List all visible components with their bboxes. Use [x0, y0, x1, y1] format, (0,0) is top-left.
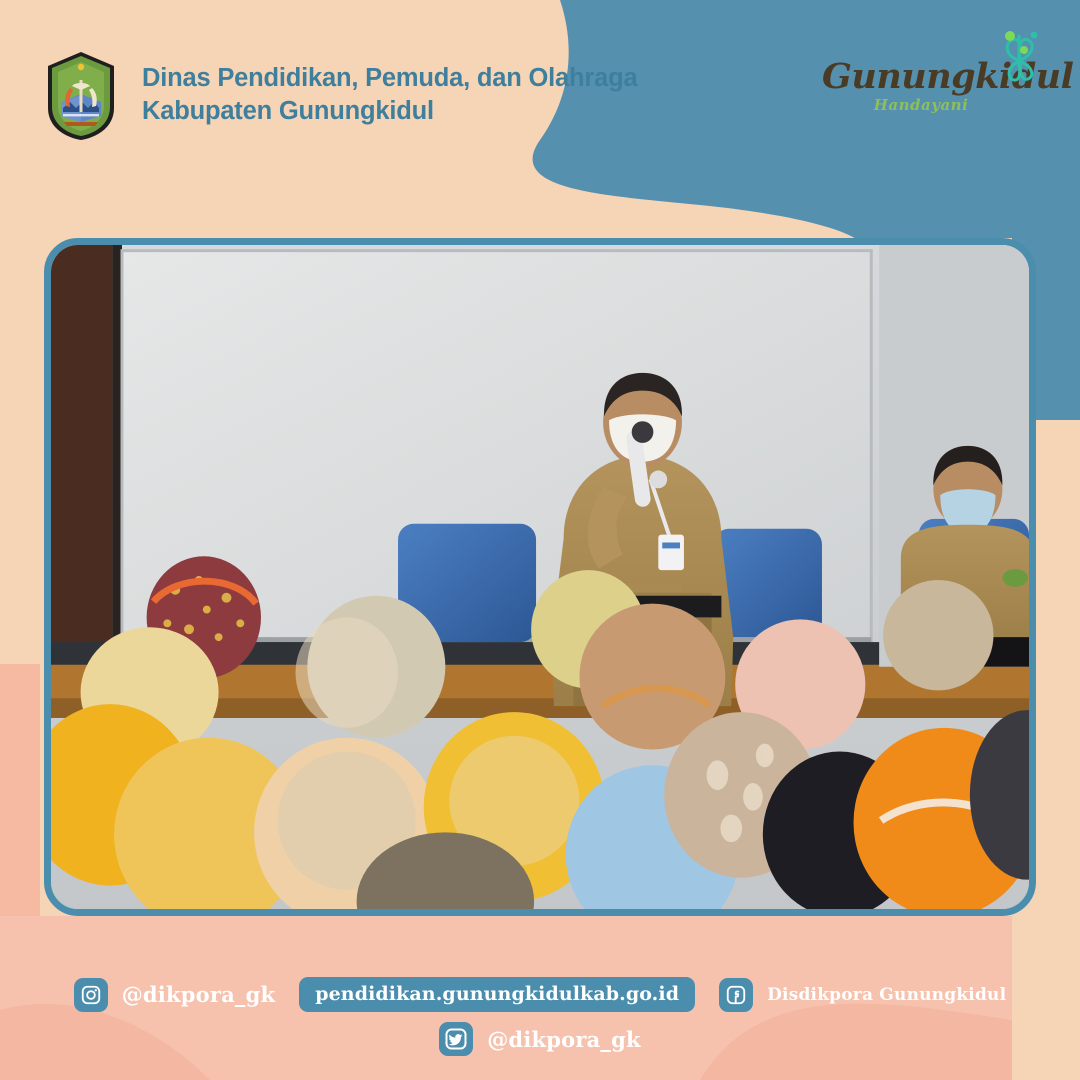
gunungkidul-brand-mark: Gunungkidul Handayani — [822, 26, 1052, 136]
facebook-page-name[interactable]: Disdikpora Gunungkidul — [767, 985, 1006, 1005]
gunungkidul-regency-coat-of-arms-icon — [42, 50, 120, 142]
header-bar: Dinas Pendidikan, Pemuda, dan Olahraga K… — [0, 0, 700, 190]
website-url-pill[interactable]: pendidikan.gunungkidulkab.go.id — [299, 977, 695, 1012]
social-media-poster: Dinas Pendidikan, Pemuda, dan Olahraga K… — [0, 0, 1080, 1080]
facebook-icon[interactable] — [719, 978, 753, 1012]
brand-tagline: Handayani — [846, 96, 996, 114]
event-photo — [51, 245, 1029, 909]
footer-row-twitter: @dikpora_gk — [0, 1022, 1080, 1056]
twitter-handle[interactable]: @dikpora_gk — [487, 1027, 641, 1052]
instagram-icon[interactable] — [74, 978, 108, 1012]
twitter-icon[interactable] — [439, 1022, 473, 1056]
page-title-line-1: Dinas Pendidikan, Pemuda, dan Olahraga — [142, 62, 637, 95]
header-title-group: Dinas Pendidikan, Pemuda, dan Olahraga K… — [142, 62, 637, 128]
dragonfly-flourish-icon — [988, 26, 1050, 88]
instagram-handle[interactable]: @dikpora_gk — [122, 982, 276, 1007]
event-photo-frame — [44, 238, 1036, 916]
footer-row-primary: @dikpora_gk pendidikan.gunungkidulkab.go… — [0, 977, 1080, 1012]
footer-social-bar: @dikpora_gk pendidikan.gunungkidulkab.go… — [0, 977, 1080, 1066]
page-title-line-2: Kabupaten Gunungkidul — [142, 95, 637, 128]
